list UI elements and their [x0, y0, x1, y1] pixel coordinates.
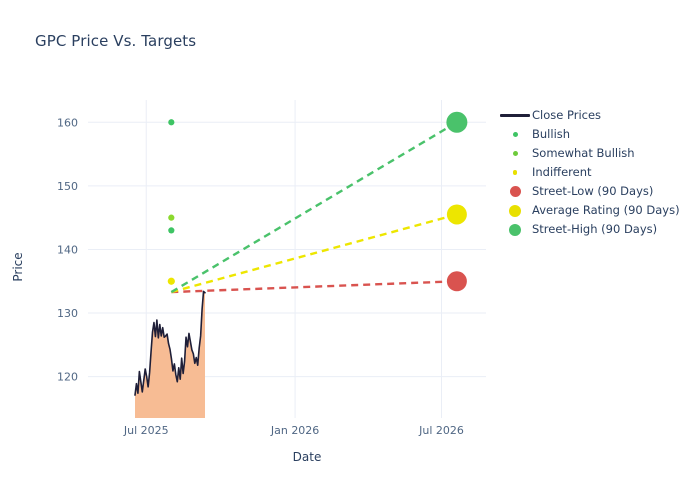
- legend-item-label: Average Rating (90 Days): [532, 201, 680, 220]
- chart-legend: Close PricesBullishSomewhat BullishIndif…: [498, 106, 698, 239]
- x-tick-label: Jan 2026: [270, 424, 319, 437]
- legend-item[interactable]: Close Prices: [498, 106, 698, 125]
- legend-line-swatch: [500, 114, 530, 117]
- legend-item[interactable]: Bullish: [498, 125, 698, 144]
- legend-dot-swatch: [513, 151, 518, 156]
- target-marker: [447, 271, 467, 291]
- legend-marker-dot: [498, 182, 532, 201]
- x-axis-title: Date: [293, 450, 322, 464]
- legend-dot-swatch: [513, 132, 518, 137]
- legend-item[interactable]: Indifferent: [498, 163, 698, 182]
- legend-marker-dot: [498, 220, 532, 239]
- legend-dot-swatch: [509, 224, 521, 236]
- legend-item-label: Close Prices: [532, 106, 601, 125]
- x-tick-label: Jul 2026: [418, 424, 464, 437]
- legend-dot-swatch: [510, 186, 521, 197]
- rating-dot: [168, 227, 174, 233]
- close-prices-series: [135, 291, 205, 418]
- y-tick-label: 140: [57, 243, 78, 256]
- legend-marker-dot: [498, 125, 532, 144]
- target-lines: [171, 122, 457, 292]
- rating-dot: [168, 119, 174, 125]
- legend-marker-dot: [498, 163, 532, 182]
- legend-item[interactable]: Street-Low (90 Days): [498, 182, 698, 201]
- legend-marker-dot: [498, 144, 532, 163]
- legend-item-label: Bullish: [532, 125, 570, 144]
- y-tick-label: 130: [57, 307, 78, 320]
- legend-item[interactable]: Somewhat Bullish: [498, 144, 698, 163]
- x-axis-ticks: Jul 2025Jan 2026Jul 2026: [123, 424, 464, 437]
- y-tick-label: 120: [57, 371, 78, 384]
- rating-dot: [168, 215, 174, 221]
- legend-dot-swatch: [513, 170, 518, 175]
- grid-lines: [88, 100, 486, 418]
- y-tick-label: 160: [57, 116, 78, 129]
- legend-item-label: Indifferent: [532, 163, 592, 182]
- legend-marker-line: [498, 106, 532, 125]
- legend-item-label: Street-Low (90 Days): [532, 182, 653, 201]
- legend-dot-swatch: [509, 205, 521, 217]
- rating-scatter-points: [168, 119, 175, 285]
- y-axis-title: Price: [11, 252, 25, 281]
- plot-area: 120130140150160 Jul 2025Jan 2026Jul 2026…: [0, 0, 700, 500]
- legend-item[interactable]: Street-High (90 Days): [498, 220, 698, 239]
- legend-item-label: Street-High (90 Days): [532, 220, 657, 239]
- legend-item[interactable]: Average Rating (90 Days): [498, 201, 698, 220]
- target-marker: [447, 204, 467, 224]
- chart-container: GPC Price Vs. Targets 120130140150160 Ju…: [0, 0, 700, 500]
- y-axis-ticks: 120130140150160: [57, 116, 78, 383]
- y-tick-label: 150: [57, 180, 78, 193]
- rating-dot: [168, 278, 175, 285]
- target-markers: [446, 112, 467, 292]
- x-tick-label: Jul 2025: [123, 424, 169, 437]
- legend-item-label: Somewhat Bullish: [532, 144, 635, 163]
- legend-marker-dot: [498, 201, 532, 220]
- target-marker: [446, 112, 467, 133]
